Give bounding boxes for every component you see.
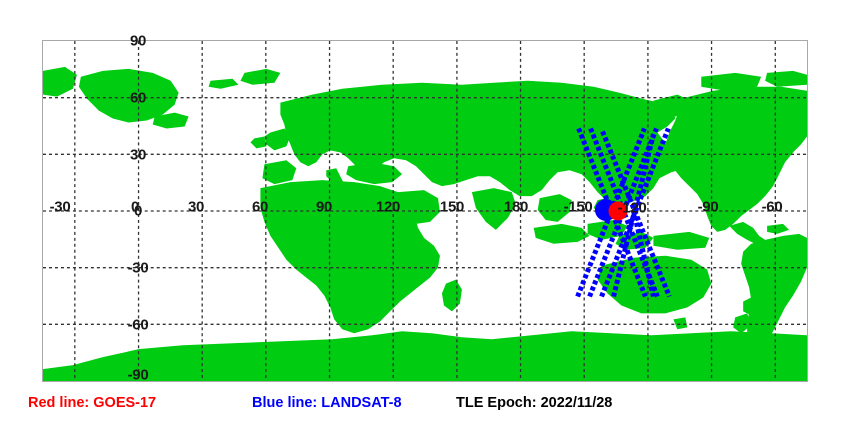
lat-tick--90: -90 [128, 368, 149, 383]
lon-tick-0: 0 [131, 200, 139, 215]
lon-tick--90: -90 [698, 200, 719, 215]
lat-tick-60: 60 [130, 91, 146, 106]
legend-tle-epoch: TLE Epoch: 2022/11/28 [456, 396, 612, 411]
land-caribbean [767, 224, 789, 234]
land-baffin [765, 71, 807, 87]
land-svalbard [240, 69, 280, 85]
land-sumatra-java [534, 224, 590, 244]
satellite-tracking-map: 90 60 30 0 -30 -60 -90 -30 0 30 60 90 12… [0, 0, 850, 425]
land-british-isles [264, 128, 290, 150]
legend-blue-line-landsat-8: Blue line: LANDSAT-8 [252, 396, 402, 411]
land-greenland-west [43, 67, 77, 97]
land-south-america [741, 234, 807, 347]
lon-tick-60: 60 [252, 200, 268, 215]
lat-tick--30: -30 [128, 261, 149, 276]
lon-tick--60: -60 [762, 200, 783, 215]
lon-tick--30: -30 [50, 200, 71, 215]
landmasses [43, 67, 807, 381]
land-iberia [262, 160, 296, 184]
land-ireland [250, 136, 266, 148]
lat-tick-90: 90 [130, 34, 146, 49]
lon-tick-120: 120 [376, 200, 400, 215]
land-new-guinea [653, 232, 709, 250]
lon-tick-150: 150 [440, 200, 464, 215]
world-map-svg [43, 41, 807, 381]
lon-tick-30: 30 [188, 200, 204, 215]
legend-red-line-goes-17: Red line: GOES-17 [28, 396, 156, 411]
lon-tick--150: -150 [564, 200, 593, 215]
land-arctic-isles [209, 79, 239, 89]
lon-tick-180: 180 [504, 200, 528, 215]
land-tasmania [673, 317, 687, 329]
footer-legend: Red line: GOES-17 Blue line: LANDSAT-8 T… [0, 396, 850, 420]
lat-tick--60: -60 [128, 318, 149, 333]
land-greenland [79, 69, 179, 123]
lon-tick--120: -120 [618, 201, 647, 216]
land-antarctica [43, 331, 807, 381]
map-plot-frame [42, 40, 808, 382]
lon-tick-90: 90 [316, 200, 332, 215]
lat-tick-30: 30 [130, 148, 146, 163]
land-madagascar [442, 280, 462, 312]
